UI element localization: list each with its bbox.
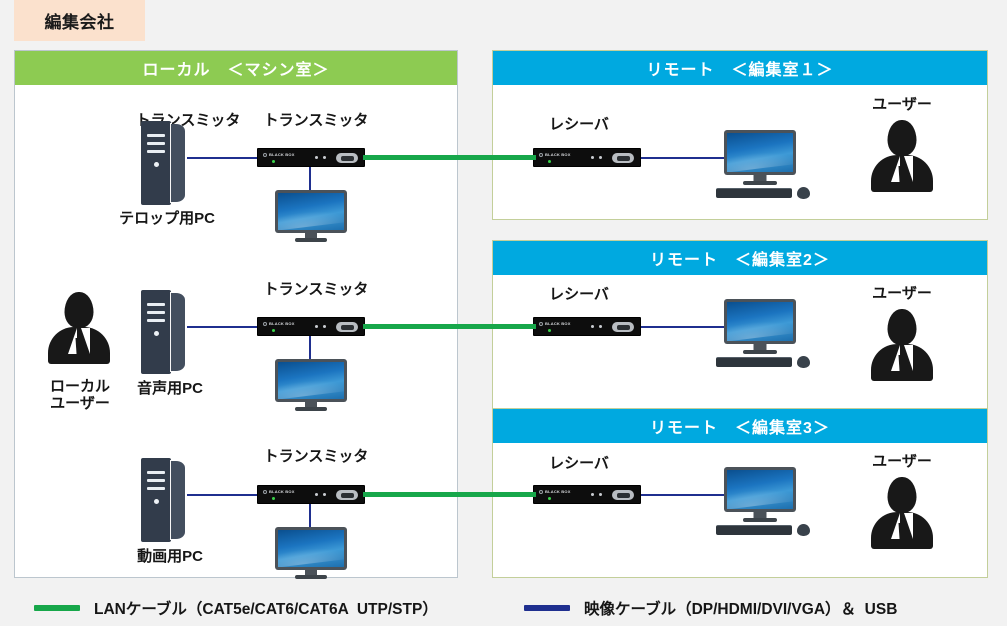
video-cable-receiver-to-monitor-3 (641, 494, 726, 496)
video-cable-pc-to-transmitter-2 (187, 326, 259, 328)
transmitter-title-1: トランスミッタ (251, 112, 381, 129)
port-led-icon (315, 156, 318, 159)
local-monitor-2 (275, 359, 347, 411)
avatar-tie (899, 355, 906, 379)
tower-slot (147, 134, 165, 137)
port-inner (341, 493, 354, 498)
monitor-screen (278, 530, 344, 567)
avatar-collar-right (904, 156, 913, 182)
transmitter-device-3: BLACK BOX (257, 485, 365, 504)
pc-tower-3 (141, 458, 187, 542)
port-led-icon (599, 325, 602, 328)
legend-swatch-lan-icon (34, 605, 80, 611)
legend-swatch-video-icon (524, 605, 570, 611)
remote-panel-header-3: リモート ＜編集室3＞ (493, 409, 987, 443)
tower-face (141, 458, 171, 542)
black-box-logo-icon: BLACK BOX (539, 152, 571, 157)
video-cable-transmitter-to-monitor-2 (309, 336, 311, 361)
port-led-icon (315, 493, 318, 496)
pc-label-3: 動画用PC (122, 548, 218, 565)
logo-ring-icon (263, 322, 267, 326)
black-box-logo-icon: BLACK BOX (539, 321, 571, 326)
diagram-title: 編集会社 (45, 8, 115, 33)
tower-slot (147, 487, 165, 490)
tower-face (141, 121, 171, 205)
avatar-tie (76, 338, 83, 362)
monitor-base (295, 575, 327, 579)
local-monitor-1 (275, 190, 347, 242)
legend: LANケーブル（CAT5e/CAT6/CAT6A UTP/STP） 映像ケーブル… (0, 588, 1007, 626)
monitor-base (743, 350, 777, 354)
monitor-base (743, 518, 777, 522)
pc-tower-1 (141, 121, 187, 205)
monitor-base (295, 407, 327, 411)
video-cable-transmitter-to-monitor-3 (309, 504, 311, 529)
logo-text: BLACK BOX (545, 489, 571, 494)
lan-cable-1 (363, 155, 536, 160)
tower-slot (147, 311, 165, 314)
legend-label-video: 映像ケーブル（DP/HDMI/DVI/VGA）＆ USB (584, 597, 897, 619)
avatar-collar-right (904, 345, 913, 371)
tower-slot (147, 150, 165, 153)
logo-text: BLACK BOX (269, 489, 295, 494)
remote-keyboard-1 (716, 188, 792, 198)
rj45-port-icon (612, 322, 634, 332)
monitor-screen (278, 362, 344, 399)
port-led-icon (591, 325, 594, 328)
receiver-device-2: BLACK BOX (533, 317, 641, 336)
port-led-icon (599, 493, 602, 496)
logo-ring-icon (539, 153, 543, 157)
video-cable-receiver-to-monitor-1 (641, 157, 726, 159)
status-led-icon (548, 160, 551, 163)
avatar-collar-left (891, 156, 900, 182)
logo-ring-icon (263, 490, 267, 494)
tower-slot (147, 303, 165, 306)
video-cable-pc-to-transmitter-3 (187, 494, 259, 496)
tower-slot (147, 142, 165, 145)
avatar-body (871, 512, 933, 549)
remote-keyboard-3 (716, 525, 792, 535)
receiver-device-3: BLACK BOX (533, 485, 641, 504)
black-box-logo-icon: BLACK BOX (263, 152, 295, 157)
avatar-body (871, 155, 933, 192)
remote-mouse-2 (797, 356, 810, 368)
port-inner (617, 325, 630, 330)
tower-face (141, 290, 171, 374)
avatar-collar-left (68, 328, 77, 354)
monitor-bezel (724, 299, 796, 344)
pc-label-1: テロップ用PC (112, 210, 222, 227)
monitor-screen (727, 470, 793, 509)
status-led-icon (548, 497, 551, 500)
monitor-bezel (724, 467, 796, 512)
port-inner (341, 325, 354, 330)
monitor-base (295, 238, 327, 242)
status-led-icon (272, 497, 275, 500)
avatar-head (888, 477, 917, 513)
black-box-logo-icon: BLACK BOX (263, 321, 295, 326)
tower-slot (147, 479, 165, 482)
tower-side (171, 124, 185, 202)
legend-label-lan: LANケーブル（CAT5e/CAT6/CAT6A UTP/STP） (94, 597, 438, 619)
monitor-bezel (275, 527, 347, 570)
remote-mouse-3 (797, 524, 810, 536)
remote-mouse-1 (797, 187, 810, 199)
port-led-icon (591, 493, 594, 496)
port-led-icon (323, 156, 326, 159)
logo-ring-icon (539, 322, 543, 326)
power-button-icon (154, 331, 159, 336)
pc-label-2: 音声用PC (122, 380, 218, 397)
receiver-device-1: BLACK BOX (533, 148, 641, 167)
monitor-bezel (724, 130, 796, 175)
remote-user-label-3: ユーザー (852, 453, 952, 470)
avatar-body (48, 327, 110, 364)
logo-text: BLACK BOX (269, 152, 295, 157)
remote-monitor-3 (724, 467, 796, 522)
logo-text: BLACK BOX (269, 321, 295, 326)
port-led-icon (323, 325, 326, 328)
lan-cable-2 (363, 324, 536, 329)
video-cable-transmitter-to-monitor-1 (309, 167, 311, 192)
logo-text: BLACK BOX (545, 152, 571, 157)
logo-text: BLACK BOX (545, 321, 571, 326)
receiver-label-3: レシーバ (534, 455, 624, 472)
receiver-label-1: レシーバ (534, 116, 624, 133)
lan-cable-3 (363, 492, 536, 497)
monitor-base (743, 181, 777, 185)
remote-user-avatar-1 (871, 120, 933, 192)
pc-tower-2 (141, 290, 187, 374)
port-led-icon (323, 493, 326, 496)
tower-side (171, 461, 185, 539)
port-led-icon (599, 156, 602, 159)
rj45-port-icon (336, 490, 358, 500)
diagram-title-tab: 編集会社 (14, 0, 145, 41)
monitor-screen (727, 133, 793, 172)
monitor-bezel (275, 190, 347, 233)
avatar-head (888, 120, 917, 156)
diagram-canvas: 編集会社 ローカル ＜マシン室＞ トランスミッタ トランスミッタ テロップ用PC… (0, 0, 1007, 626)
monitor-screen (727, 302, 793, 341)
port-inner (617, 156, 630, 161)
remote-keyboard-2 (716, 357, 792, 367)
monitor-screen (278, 193, 344, 230)
power-button-icon (154, 499, 159, 504)
power-button-icon (154, 162, 159, 167)
transmitter-device-1: BLACK BOX (257, 148, 365, 167)
rj45-port-icon (336, 322, 358, 332)
remote-user-avatar-3 (871, 477, 933, 549)
logo-ring-icon (263, 153, 267, 157)
avatar-collar-left (891, 345, 900, 371)
port-led-icon (591, 156, 594, 159)
avatar-body (871, 344, 933, 381)
black-box-logo-icon: BLACK BOX (263, 489, 295, 494)
remote-panel-header-2: リモート ＜編集室2＞ (493, 241, 987, 275)
local-monitor-3 (275, 527, 347, 579)
avatar-head (888, 309, 917, 345)
avatar-collar-right (904, 513, 913, 539)
legend-item-video: 映像ケーブル（DP/HDMI/DVI/VGA）＆ USB (524, 597, 897, 619)
transmitter-device-2: BLACK BOX (257, 317, 365, 336)
rj45-port-icon (612, 153, 634, 163)
avatar-tie (899, 166, 906, 190)
video-cable-pc-to-transmitter-1 (187, 157, 259, 159)
avatar-collar-left (891, 513, 900, 539)
tower-slot (147, 471, 165, 474)
port-led-icon (315, 325, 318, 328)
remote-monitor-2 (724, 299, 796, 354)
receiver-label-2: レシーバ (534, 286, 624, 303)
local-panel-header: ローカル ＜マシン室＞ (15, 51, 457, 85)
port-inner (341, 156, 354, 161)
rj45-port-icon (336, 153, 358, 163)
black-box-logo-icon: BLACK BOX (539, 489, 571, 494)
port-inner (617, 493, 630, 498)
remote-user-avatar-2 (871, 309, 933, 381)
status-led-icon (272, 329, 275, 332)
status-led-icon (272, 160, 275, 163)
avatar-tie (899, 523, 906, 547)
logo-ring-icon (539, 490, 543, 494)
monitor-bezel (275, 359, 347, 402)
remote-user-label-1: ユーザー (852, 96, 952, 113)
remote-user-label-2: ユーザー (852, 285, 952, 302)
remote-panel-header-1: リモート ＜編集室１＞ (493, 51, 987, 85)
status-led-icon (548, 329, 551, 332)
video-cable-receiver-to-monitor-2 (641, 326, 726, 328)
rj45-port-icon (612, 490, 634, 500)
avatar-head (65, 292, 94, 328)
tower-side (171, 293, 185, 371)
remote-monitor-1 (724, 130, 796, 185)
local-user-label: ローカル ユーザー (30, 378, 130, 413)
legend-item-lan: LANケーブル（CAT5e/CAT6/CAT6A UTP/STP） (34, 597, 438, 619)
local-user-avatar (48, 292, 110, 364)
avatar-collar-right (81, 328, 90, 354)
tower-slot (147, 319, 165, 322)
transmitter-title-2: トランスミッタ (251, 281, 381, 298)
transmitter-title-3: トランスミッタ (251, 448, 381, 465)
